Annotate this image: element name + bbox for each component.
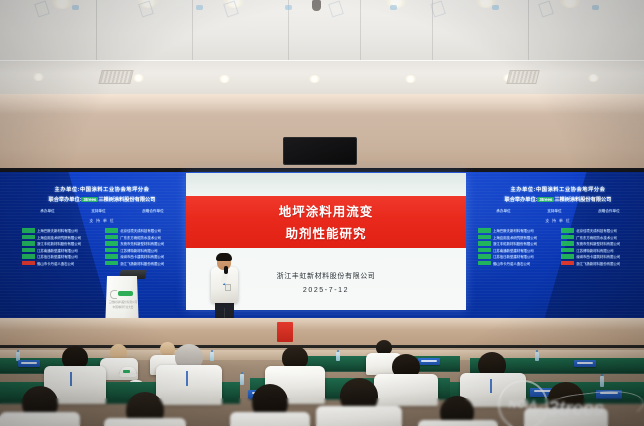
ceiling-downlight xyxy=(219,75,230,83)
sponsor-name: 北京佳境天成科技有限公司 xyxy=(120,228,161,233)
water-bottle xyxy=(600,376,604,387)
sponsor-row: 东莞市先科新型材料有限公司 xyxy=(105,241,182,246)
sponsor-row: 江苏博特新材料有限公司 xyxy=(105,248,182,253)
stage-red-box-prop xyxy=(277,322,293,342)
sponsor-tag-icon xyxy=(478,235,491,239)
led-left-poster: 主办单位:中国涂料工业协会地坪分会 联合举办单位:3trees三棵树涂料股份有限… xyxy=(22,186,182,267)
sponsor-tag-icon xyxy=(105,254,118,258)
water-bottle xyxy=(240,374,244,385)
sponsor-tag-icon xyxy=(22,241,35,245)
sponsor-row: 广东东方雨虹防水技术公司 xyxy=(105,235,182,240)
truss-lamp xyxy=(72,5,79,10)
right-poster-heading-2-prefix: 联合举办单位: xyxy=(505,197,538,203)
sponsor-tag-icon xyxy=(22,228,35,232)
left-sponsor-column-1: 上海巴斯夫新材料有限公司 上海应用技术研究院有限公司 浙江丰虹新材料股份有限公司… xyxy=(22,228,99,267)
sponsor-name: 江苏南通新型建材有限公司 xyxy=(493,248,534,253)
lectern-caption: 三棵树涂料股份有限公司 中国地坪行业大会 xyxy=(108,300,138,310)
water-bottle xyxy=(535,352,539,361)
sponsor-tag-icon xyxy=(22,248,35,252)
sponsor-name: 东莞市先科新型材料有限公司 xyxy=(120,241,164,246)
sponsor-row: 上海巴斯夫新材料有限公司 xyxy=(478,228,555,233)
sponsor-tag-icon xyxy=(105,241,118,245)
ceiling-camera-icon xyxy=(312,0,321,11)
sponsor-row: 江苏信日新型建材有限公司 xyxy=(478,254,555,259)
left-poster-mid-label: 支 持 单 位 xyxy=(22,219,182,224)
lectern-caption-line-1: 三棵树涂料股份有限公司 xyxy=(108,300,138,304)
sponsor-row: 佛山市卡丹诺人造石公司 xyxy=(478,261,555,266)
sponsor-name: 深圳市西卡建筑材料有限公司 xyxy=(120,254,164,259)
microphone-icon xyxy=(224,266,228,274)
truss-lamp xyxy=(492,5,499,10)
water-bottle xyxy=(336,352,340,361)
truss-lamp xyxy=(196,5,203,10)
audience-lanyard xyxy=(490,379,492,393)
sponsor-tag-icon xyxy=(105,261,118,265)
truss-lamp xyxy=(390,5,397,10)
right-poster-heading-1: 主办单位:中国涂料工业协会地坪分会 xyxy=(478,186,638,193)
left-sponsor-column-2: 北京佳境天成科技有限公司 广东东方雨虹防水技术公司 东莞市先科新型材料有限公司 … xyxy=(105,228,182,267)
sponsor-tag-icon xyxy=(22,261,35,265)
right-poster-sponsor-columns: 上海巴斯夫新材料有限公司 上海应用技术研究院有限公司 浙江丰虹新材料股份有限公司… xyxy=(478,228,638,267)
audience-body xyxy=(0,412,80,426)
audience-body xyxy=(316,406,402,426)
3trees-watermark-logo: 3trees xyxy=(540,395,644,425)
sponsor-name: 浙江飞扬新材料股份有限公司 xyxy=(576,261,620,266)
ceiling-downlight xyxy=(309,75,320,83)
cap-brim xyxy=(119,374,137,377)
sponsor-tag-icon xyxy=(22,235,35,239)
sponsor-tag-icon xyxy=(561,235,574,239)
sponsor-tag-icon xyxy=(561,261,574,265)
sponsor-name: 江苏南通新型建材有限公司 xyxy=(37,248,78,253)
sponsor-tag-icon xyxy=(478,241,491,245)
sponsor-name: 广东东方雨虹防水技术公司 xyxy=(120,235,161,240)
sponsor-row: 江苏博特新材料有限公司 xyxy=(561,248,638,253)
truss-lamp xyxy=(592,5,599,10)
sponsor-name: 浙江飞扬新材料股份有限公司 xyxy=(120,261,164,266)
sponsor-row: 上海应用技术研究院有限公司 xyxy=(22,235,99,240)
audience-body xyxy=(374,374,438,406)
left-poster-heading-2-suffix: 三棵树涂料股份有限公司 xyxy=(98,197,155,203)
sponsor-tag-icon xyxy=(561,228,574,232)
sponsor-row: 北京佳境天成科技有限公司 xyxy=(561,228,638,233)
sponsor-row: 深圳市西卡建筑材料有限公司 xyxy=(105,254,182,259)
sponsor-row: 江苏信日新型建材有限公司 xyxy=(22,254,99,259)
sponsor-row: 浙江飞扬新材料股份有限公司 xyxy=(105,261,182,266)
right-poster-mid-label: 支 持 单 位 xyxy=(478,219,638,224)
ceiling-downlight xyxy=(133,74,144,82)
ceiling-seam xyxy=(192,0,193,60)
sponsor-tag-icon xyxy=(561,241,574,245)
sponsor-row: 浙江丰虹新材料股份有限公司 xyxy=(22,241,99,246)
sponsor-name: 江苏博特新材料有限公司 xyxy=(120,248,157,253)
led-right-poster: 主办单位:中国涂料工业协会地坪分会 联合举办单位:3trees三棵树涂料股份有限… xyxy=(478,186,638,267)
sponsor-row: 浙江丰虹新材料股份有限公司 xyxy=(478,241,555,246)
left-subheading-2: 战略合作单位 xyxy=(142,209,164,214)
ceiling-lower-soffit xyxy=(0,60,644,94)
stage-floor-sheen xyxy=(0,318,644,330)
right-poster-heading-2-suffix: 三棵树涂料股份有限公司 xyxy=(554,197,611,203)
right-poster-brand-chip: 3trees xyxy=(537,197,554,202)
audience-lanyard xyxy=(70,372,72,386)
audience-body xyxy=(418,420,498,426)
wall-mounted-monitor xyxy=(283,137,357,165)
speaker-hair xyxy=(216,253,232,261)
ceiling-seam xyxy=(528,0,529,60)
ceiling-air-vent xyxy=(98,70,133,84)
lectern-logo-mark-icon xyxy=(110,290,117,299)
ceiling-seam xyxy=(96,0,97,60)
right-subheading-0: 承办单位 xyxy=(496,209,510,214)
right-sponsor-column-2: 北京佳境天成科技有限公司 广东东方雨虹防水技术公司 东莞市先科新型材料有限公司 … xyxy=(561,228,638,267)
sponsor-name: 浙江丰虹新材料股份有限公司 xyxy=(37,241,81,246)
sponsor-name: 上海应用技术研究院有限公司 xyxy=(493,235,537,240)
sponsor-tag-icon xyxy=(478,254,491,258)
conference-photo: 主办单位:中国涂料工业协会地坪分会 联合举办单位:3trees三棵树涂料股份有限… xyxy=(0,0,644,426)
lectern-brand-logo xyxy=(110,290,134,297)
sponsor-row: 深圳市西卡建筑材料有限公司 xyxy=(561,254,638,259)
sponsor-row: 江苏南通新型建材有限公司 xyxy=(22,248,99,253)
sponsor-name: 浙江丰虹新材料股份有限公司 xyxy=(493,241,537,246)
sponsor-tag-icon xyxy=(105,235,118,239)
audience-name-card xyxy=(18,360,40,367)
sponsor-tag-icon xyxy=(105,248,118,252)
3trees-watermark-text: 3trees xyxy=(548,398,604,421)
sponsor-name: 东莞市先科新型材料有限公司 xyxy=(576,241,620,246)
sponsor-tag-icon xyxy=(478,248,491,252)
sponsor-row: 广东东方雨虹防水技术公司 xyxy=(561,235,638,240)
right-poster-heading-2: 联合举办单位:3trees三棵树涂料股份有限公司 xyxy=(478,196,638,203)
audience-head xyxy=(160,342,175,356)
sponsor-row: 江苏南通新型建材有限公司 xyxy=(478,248,555,253)
sponsor-row: 浙江飞扬新材料股份有限公司 xyxy=(561,261,638,266)
audience-body xyxy=(230,412,310,426)
ncia-watermark-text: NCIA xyxy=(509,399,538,411)
audience-name-card xyxy=(418,358,440,365)
slide-title-band: 地坪涂料用流变 助剂性能研究 xyxy=(186,196,466,248)
sponsor-name: 北京佳境天成科技有限公司 xyxy=(576,228,617,233)
sponsor-tag-icon xyxy=(105,228,118,232)
left-poster-subheadings: 承办单位 支持单位 战略合作单位 xyxy=(22,209,182,214)
sponsor-name: 佛山市卡丹诺人造石公司 xyxy=(493,261,530,266)
left-subheading-0: 承办单位 xyxy=(40,209,54,214)
sponsor-row: 上海巴斯夫新材料有限公司 xyxy=(22,228,99,233)
sponsor-tag-icon xyxy=(561,254,574,258)
truss-lamp xyxy=(285,5,292,10)
sponsor-row: 佛山市卡丹诺人造石公司 xyxy=(22,261,99,266)
sponsor-tag-icon xyxy=(561,248,574,252)
ceiling-downlight xyxy=(33,73,44,81)
sponsor-row: 东莞市先科新型材料有限公司 xyxy=(561,241,638,246)
ceiling-air-vent xyxy=(506,70,539,84)
left-poster-heading-2: 联合举办单位:3trees三棵树涂料股份有限公司 xyxy=(22,196,182,203)
sponsor-name: 江苏信日新型建材有限公司 xyxy=(493,254,534,259)
left-subheading-1: 支持单位 xyxy=(91,209,105,214)
left-poster-brand-chip: 3trees xyxy=(81,197,98,202)
sponsor-name: 上海巴斯夫新材料有限公司 xyxy=(37,228,78,233)
sponsor-name: 上海应用技术研究院有限公司 xyxy=(37,235,81,240)
sponsor-row: 上海应用技术研究院有限公司 xyxy=(478,235,555,240)
lectern-logo-pill-icon xyxy=(118,291,133,296)
sponsor-name: 广东东方雨虹防水技术公司 xyxy=(576,235,617,240)
audience-lanyard xyxy=(186,371,188,386)
right-poster-subheadings: 承办单位 支持单位 战略合作单位 xyxy=(478,209,638,214)
ceiling-seam xyxy=(360,0,361,60)
sponsor-tag-icon xyxy=(478,261,491,265)
ceiling-downlight xyxy=(405,75,416,83)
water-bottle xyxy=(210,352,214,361)
lectern-caption-line-2: 中国地坪行业大会 xyxy=(108,305,138,309)
sponsor-name: 江苏博特新材料有限公司 xyxy=(576,248,613,253)
wall-cove-light xyxy=(0,94,644,114)
right-subheading-2: 战略合作单位 xyxy=(598,209,620,214)
sponsor-tag-icon xyxy=(478,228,491,232)
slide-title-line-2: 助剂性能研究 xyxy=(186,219,466,241)
audience-body xyxy=(104,418,186,426)
ceiling-downlight xyxy=(588,74,599,82)
slide-title-line-1: 地坪涂料用流变 xyxy=(186,196,466,219)
speaker-badge xyxy=(225,284,231,291)
sponsor-row: 北京佳境天成科技有限公司 xyxy=(105,228,182,233)
sponsor-name: 上海巴斯夫新材料有限公司 xyxy=(493,228,534,233)
left-poster-heading-2-prefix: 联合举办单位: xyxy=(49,197,82,203)
screen-top-gradient xyxy=(186,173,466,197)
audience-name-card xyxy=(574,360,596,367)
right-subheading-1: 支持单位 xyxy=(547,209,561,214)
right-sponsor-column-1: 上海巴斯夫新材料有限公司 上海应用技术研究院有限公司 浙江丰虹新材料股份有限公司… xyxy=(478,228,555,267)
sponsor-name: 深圳市西卡建筑材料有限公司 xyxy=(576,254,620,259)
audience-body xyxy=(156,365,222,405)
sponsor-name: 江苏信日新型建材有限公司 xyxy=(37,254,78,259)
left-poster-heading-1: 主办单位:中国涂料工业协会地坪分会 xyxy=(22,186,182,193)
sponsor-tag-icon xyxy=(22,254,35,258)
left-poster-sponsor-columns: 上海巴斯夫新材料有限公司 上海应用技术研究院有限公司 浙江丰虹新材料股份有限公司… xyxy=(22,228,182,267)
sponsor-name: 佛山市卡丹诺人造石公司 xyxy=(37,261,74,266)
